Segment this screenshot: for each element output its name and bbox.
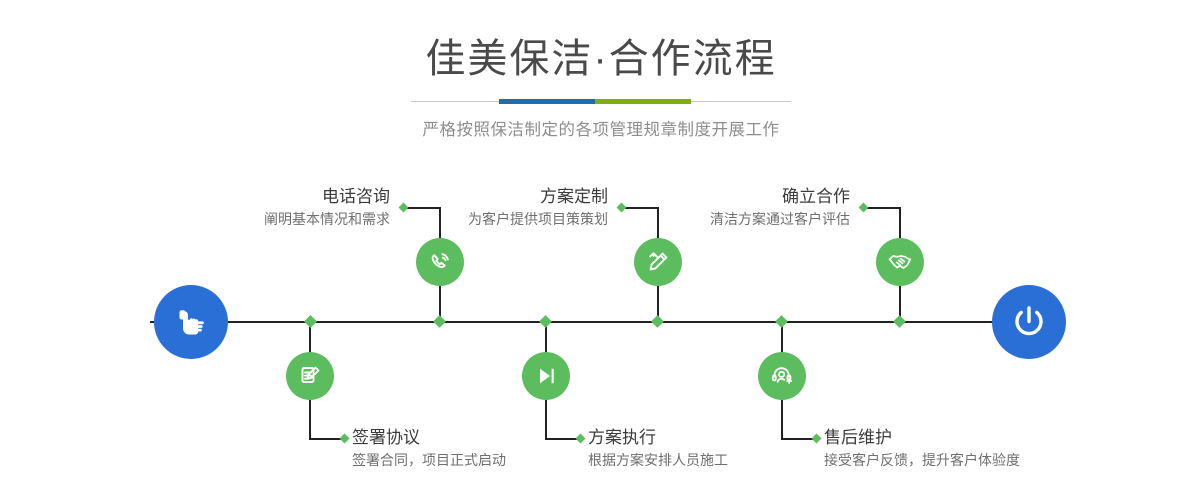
connector-s3-horz (622, 207, 659, 209)
divider-segment-green (595, 99, 691, 104)
connector-s1-horz (404, 207, 441, 209)
phone-handset-icon (426, 248, 454, 276)
play-execute-icon (532, 362, 560, 390)
axis-marker-2 (304, 315, 317, 328)
step-icon-3[interactable] (634, 238, 682, 286)
page-subtitle: 严格按照保洁制定的各项管理规章制度开展工作 (0, 105, 1202, 140)
process-flow-infographic: 佳美保洁·合作流程 严格按照保洁制定的各项管理规章制度开展工作 (0, 0, 1202, 502)
step-desc-1: 阐明基本情况和需求 (264, 207, 390, 230)
power-button-icon (1008, 301, 1050, 343)
step-title-3: 方案定制 (468, 186, 608, 207)
step-label-5: 确立合作 清洁方案通过客户评估 (710, 186, 850, 230)
step-title-2: 签署协议 (352, 427, 506, 448)
step-desc-5: 清洁方案通过客户评估 (710, 207, 850, 230)
step-icon-5[interactable] (876, 238, 924, 286)
label-marker-3 (617, 203, 627, 213)
step-title-4: 方案执行 (588, 427, 728, 448)
pencil-ruler-icon (644, 248, 672, 276)
connector-s3-vert (657, 208, 659, 238)
timeline-axis (150, 321, 1052, 323)
step-icon-1[interactable] (286, 352, 334, 400)
pointing-hand-icon (171, 302, 211, 342)
connector-s6-vert (781, 400, 783, 440)
axis-marker-3 (651, 315, 664, 328)
step-label-3: 方案定制 为客户提供项目策策划 (468, 186, 608, 230)
customer-service-icon (768, 362, 796, 390)
step-label-1: 电话咨询 阐明基本情况和需求 (264, 186, 390, 230)
divider-segment-blue (499, 99, 595, 104)
step-label-4: 方案执行 根据方案安排人员施工 (588, 427, 728, 471)
phone-call-icon (296, 362, 324, 390)
label-marker-5 (859, 203, 869, 213)
label-marker-2 (340, 434, 350, 444)
axis-marker-4 (539, 315, 552, 328)
label-marker-4 (576, 434, 586, 444)
step-title-5: 确立合作 (710, 186, 850, 207)
axis-marker-6 (775, 315, 788, 328)
connector-s4-vert (545, 400, 547, 440)
label-marker-1 (399, 203, 409, 213)
connector-s1-vert (439, 208, 441, 238)
start-node[interactable] (154, 285, 228, 359)
label-marker-6 (812, 434, 822, 444)
connector-s5-horz (864, 207, 901, 209)
step-icon-6[interactable] (758, 352, 806, 400)
axis-marker-5 (893, 315, 906, 328)
connector-s2-vert (309, 400, 311, 440)
step-desc-6: 接受客户反馈，提升客户体验度 (824, 448, 1020, 471)
step-desc-3: 为客户提供项目策策划 (468, 207, 608, 230)
step-desc-4: 根据方案安排人员施工 (588, 448, 728, 471)
step-icon-phone[interactable] (416, 238, 464, 286)
end-node[interactable] (992, 285, 1066, 359)
step-title-1: 电话咨询 (264, 186, 390, 207)
step-label-2: 签署协议 签署合同，项目正式启动 (352, 427, 506, 471)
step-desc-2: 签署合同，项目正式启动 (352, 448, 506, 471)
axis-marker-phone (433, 315, 446, 328)
handshake-icon (886, 248, 914, 276)
step-icon-4[interactable] (522, 352, 570, 400)
page-title: 佳美保洁·合作流程 (0, 0, 1202, 82)
connector-s5-vert (899, 208, 901, 238)
title-divider (411, 98, 791, 105)
step-label-6: 售后维护 接受客户反馈，提升客户体验度 (824, 427, 1020, 471)
step-title-6: 售后维护 (824, 427, 1020, 448)
header: 佳美保洁·合作流程 严格按照保洁制定的各项管理规章制度开展工作 (0, 0, 1202, 140)
